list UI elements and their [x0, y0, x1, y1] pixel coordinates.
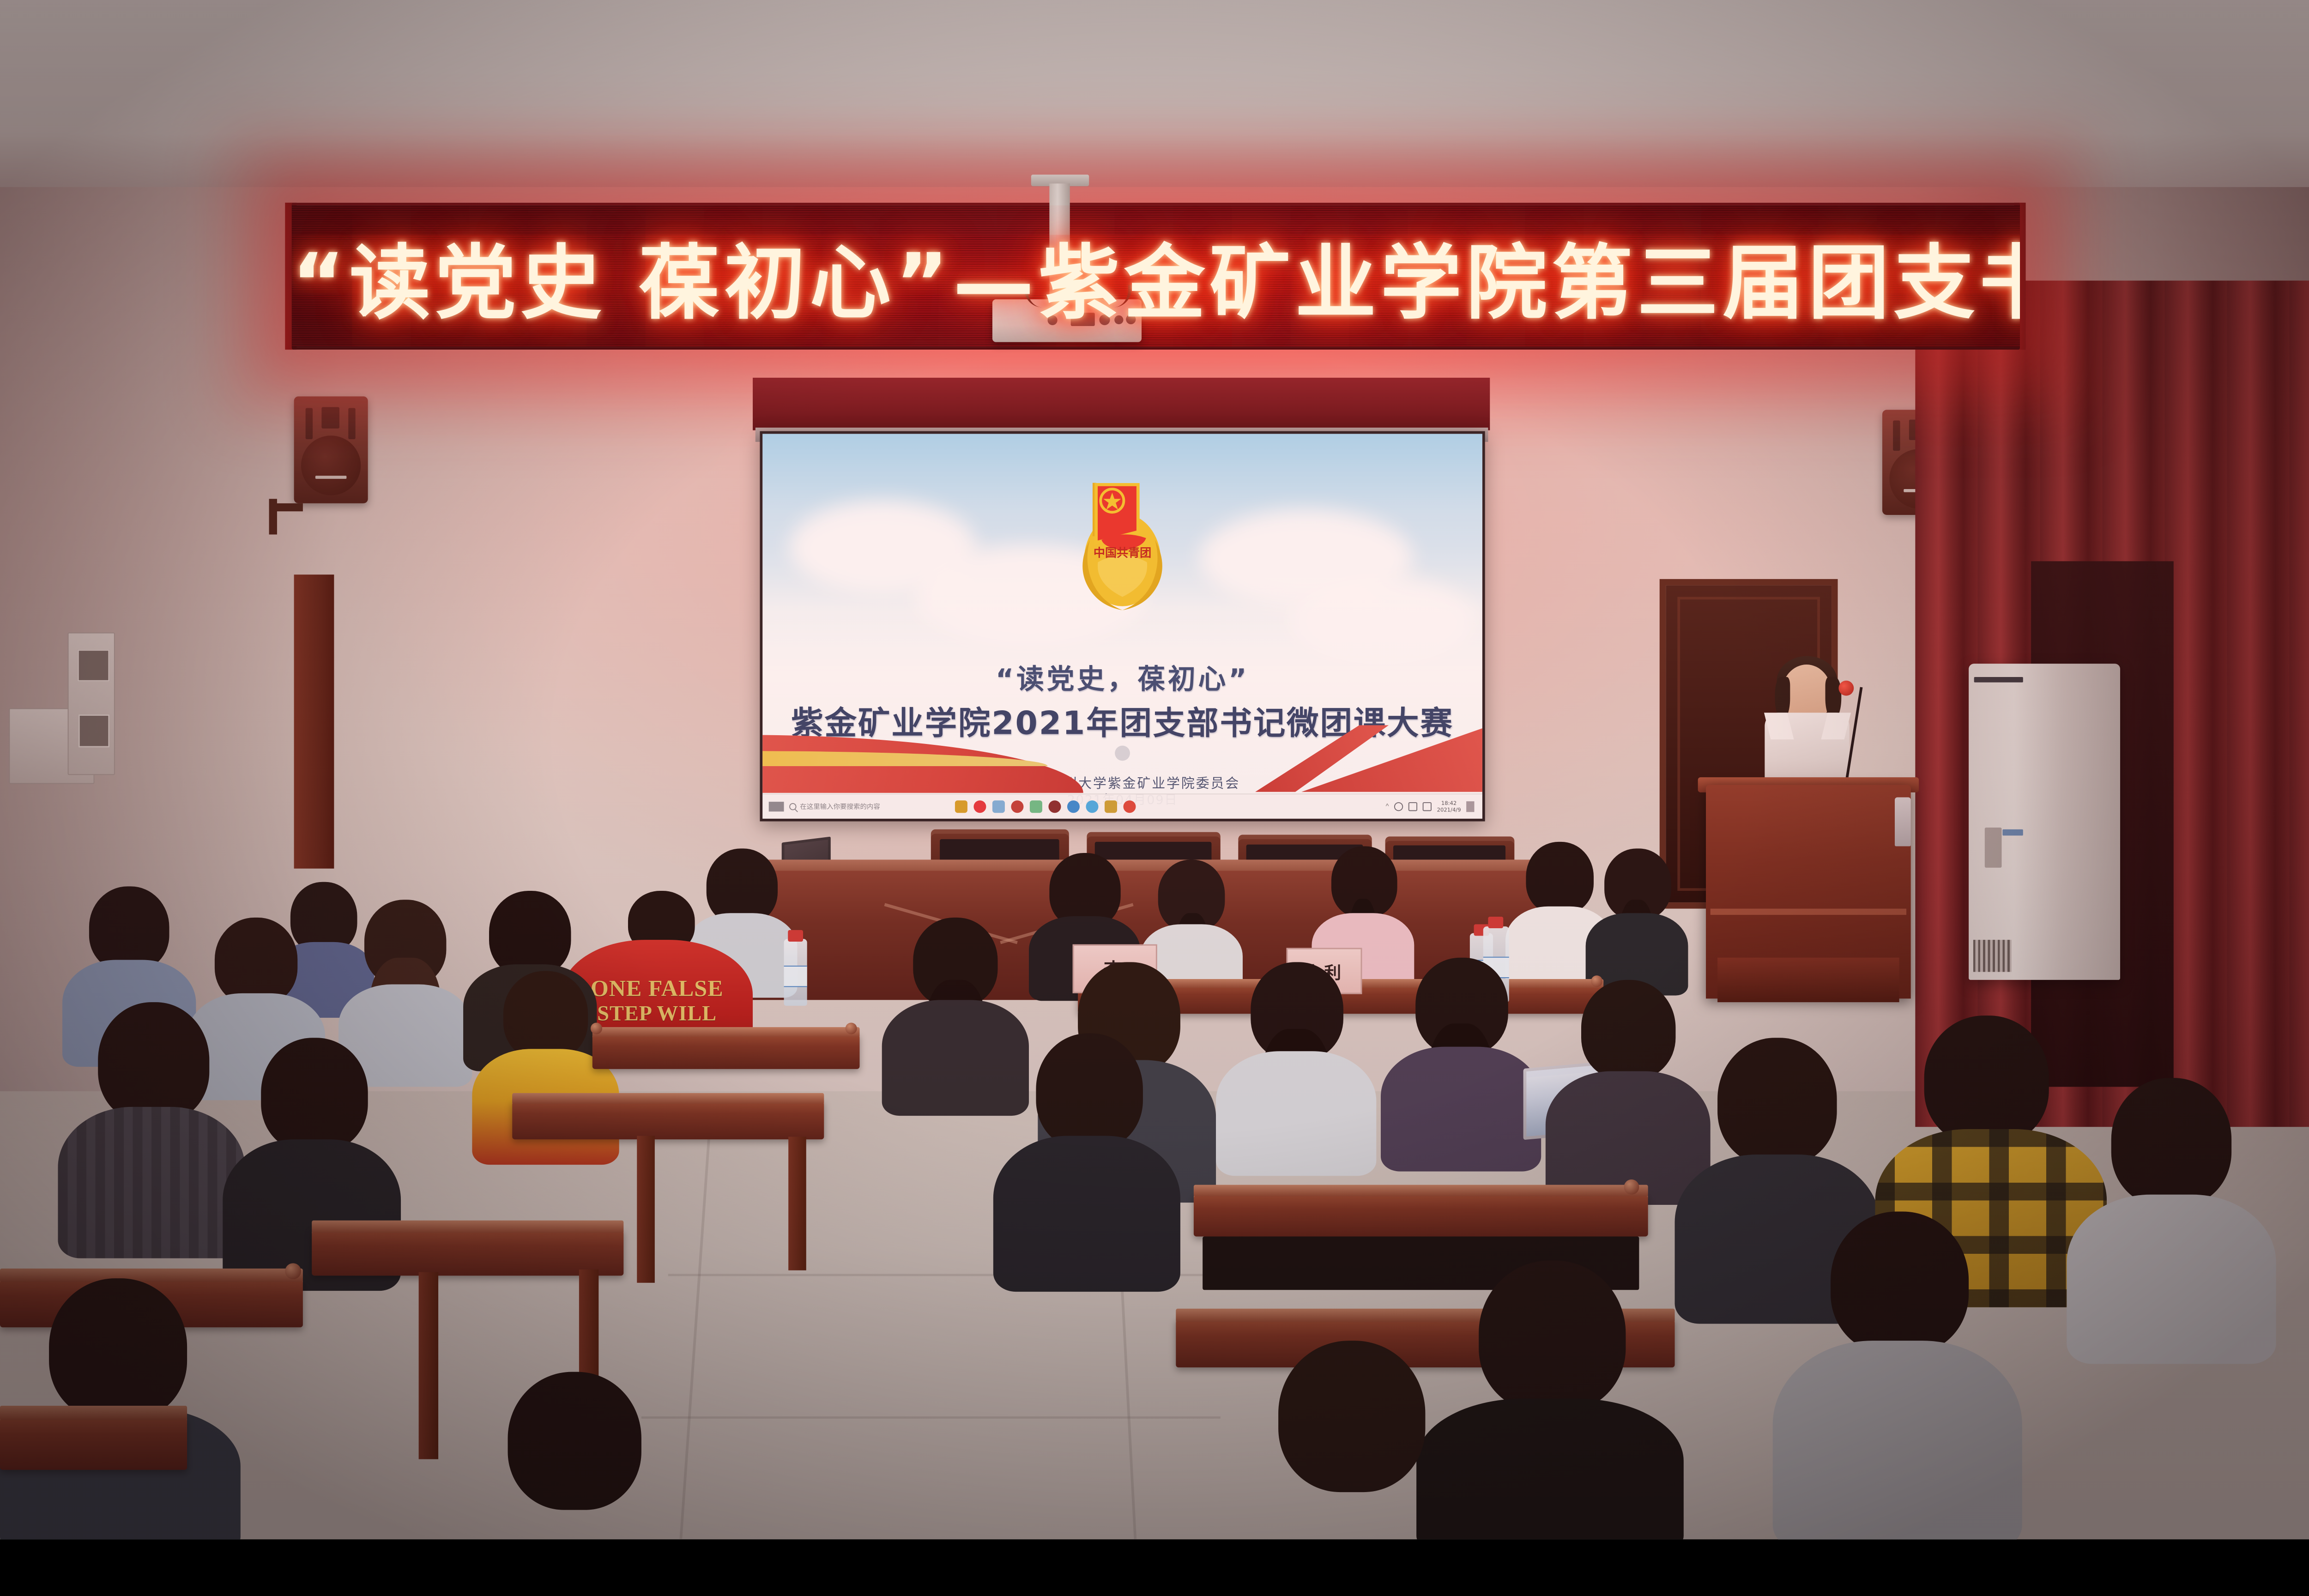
- speaker-horn-slot: [348, 408, 355, 439]
- person-head: [1831, 1211, 1969, 1354]
- caret-up-icon[interactable]: ^: [1386, 803, 1389, 810]
- person-head: [1924, 1016, 2049, 1145]
- speaker-horn-slot: [321, 407, 339, 429]
- left-wall-door[interactable]: [294, 574, 334, 869]
- search-icon: [789, 803, 796, 810]
- netease-music-icon[interactable]: [973, 800, 986, 813]
- browser-icon[interactable]: [1011, 800, 1023, 813]
- person-head: [2111, 1078, 2231, 1206]
- audience-person: [1381, 958, 1541, 1167]
- ac-control-panel[interactable]: [1985, 828, 2002, 868]
- bench-knob: [591, 1023, 602, 1034]
- wall-speaker-left: [294, 396, 368, 503]
- person-head: [1036, 1034, 1142, 1149]
- person-torso: [1773, 1341, 2022, 1539]
- bottle-cap: [788, 930, 803, 942]
- bench-rail: [312, 1221, 623, 1233]
- podium-base: [1717, 958, 1899, 1002]
- ime-icon[interactable]: [1423, 802, 1432, 811]
- search-placeholder-text: 在这里输入你要搜索的内容: [800, 802, 880, 811]
- network-icon[interactable]: [1394, 802, 1403, 811]
- slide-cloud: [1288, 576, 1475, 665]
- show-desktop-button[interactable]: [1466, 801, 1474, 812]
- person-head: [1581, 980, 1675, 1080]
- person-head: [1526, 842, 1594, 914]
- podium-water-bottle: [1895, 797, 1911, 846]
- ac-brand-logo: [2002, 829, 2023, 836]
- person-head: [98, 1002, 209, 1122]
- explorer-icon[interactable]: [955, 800, 967, 813]
- bench-leg: [788, 1137, 806, 1270]
- qq-icon[interactable]: [1086, 800, 1098, 813]
- taskbar-system-tray: ^ 18:42 2021/4/9: [1386, 800, 1482, 813]
- bench-row[interactable]: [512, 1100, 824, 1139]
- bench-rail: [0, 1406, 187, 1420]
- bench-leg: [419, 1272, 438, 1459]
- bench-knob: [846, 1023, 857, 1034]
- google-icon[interactable]: [1105, 800, 1117, 813]
- clock-time: 18:42: [1441, 800, 1457, 806]
- slide-title: “读党史，葆初心”: [762, 657, 1482, 697]
- floor-tile-line: [641, 1416, 1221, 1419]
- led-banner: “读党史 葆初心”—紫金矿业学院第三届团支书微团课比赛: [292, 203, 2020, 350]
- bench-row[interactable]: [1194, 1194, 1648, 1237]
- air-conditioner: [1969, 664, 2120, 980]
- audience-person: [1216, 962, 1376, 1171]
- slide-bullet-dot: [1115, 746, 1130, 761]
- shield-icon[interactable]: [1048, 800, 1061, 813]
- svg-text:中国共青团: 中国共青团: [1094, 546, 1151, 560]
- audience-person: [1211, 1341, 1487, 1539]
- person-head: [215, 918, 297, 1005]
- bench-knob: [285, 1263, 301, 1279]
- screen-valance: [753, 378, 1490, 430]
- audience-person: [1773, 1211, 2022, 1539]
- panel-window-upper: [78, 649, 109, 681]
- microphone-head-icon: [1838, 681, 1854, 696]
- file-manager-icon[interactable]: [992, 800, 1005, 813]
- bottle-label: [784, 966, 807, 987]
- bench-rail: [512, 1093, 824, 1104]
- bench-leg: [637, 1136, 655, 1282]
- speaker-horn-slot: [1893, 420, 1900, 451]
- taskbar-clock[interactable]: 18:42 2021/4/9: [1437, 800, 1461, 813]
- person-torso: [2067, 1195, 2276, 1364]
- ac-air-grille: [1973, 940, 2012, 972]
- speaker-bracket-left: [269, 499, 277, 534]
- youth-league-emblem: 中国共青团: [1067, 473, 1178, 616]
- podium-molding: [1711, 909, 1906, 915]
- projection-screen-frame: 中国共青团 “读党史，葆初心” 紫金矿业学院2021年团支部书记微团课大赛 共青…: [760, 431, 1485, 822]
- edge-icon[interactable]: [1067, 800, 1080, 813]
- speaker-horn-slot: [306, 408, 313, 439]
- bench-rail: [1194, 1185, 1648, 1197]
- led-banner-text: “读党史 葆初心”—紫金矿业学院第三届团支书微团课比赛: [292, 218, 2020, 335]
- person-head: [49, 1278, 187, 1421]
- person-head: [1717, 1038, 1837, 1165]
- person-head: [261, 1038, 368, 1152]
- audience-person: [993, 1034, 1180, 1283]
- speaker-brand-mark: [315, 476, 347, 479]
- person-head: [89, 886, 169, 971]
- person-torso: [993, 1136, 1180, 1292]
- mail-icon[interactable]: [1030, 800, 1042, 813]
- audience-person: [2067, 1078, 2276, 1354]
- person-head: [489, 891, 571, 976]
- panel-window-lower: [79, 714, 110, 747]
- lecture-hall-scene: “读党史 葆初心”—紫金矿业学院第三届团支书微团课比赛: [0, 0, 2309, 1539]
- taskbar-search-input[interactable]: 在这里输入你要搜索的内容: [789, 799, 923, 814]
- person-torso: [58, 1107, 245, 1258]
- bench-knob: [1624, 1179, 1639, 1195]
- windows-taskbar: 在这里输入你要搜索的内容 ^: [762, 794, 1482, 819]
- bench-row[interactable]: [312, 1229, 623, 1276]
- person-head: [508, 1372, 641, 1510]
- water-bottle: [784, 939, 807, 1006]
- projection-screen: 中国共青团 “读党史，葆初心” 紫金矿业学院2021年团支部书记微团课大赛 共青…: [762, 434, 1482, 818]
- person-head: [1278, 1341, 1425, 1492]
- person-head: [503, 971, 588, 1060]
- volume-icon[interactable]: [1408, 802, 1417, 811]
- bottle-cap: [1488, 917, 1503, 928]
- audience-person: [454, 1372, 686, 1540]
- wps-icon[interactable]: [1123, 800, 1136, 813]
- audience-person: [58, 1002, 245, 1251]
- audience-person: [1586, 848, 1688, 995]
- taskbar-icon-group: [955, 800, 1136, 813]
- person-torso: [1381, 1047, 1541, 1172]
- person-torso: [1216, 1051, 1376, 1176]
- bench-row[interactable]: [0, 1416, 187, 1470]
- clock-date: 2021/4/9: [1437, 806, 1461, 813]
- ac-vent-slot: [1974, 677, 2023, 683]
- slide-ribbon-gold-left: [762, 751, 1047, 766]
- person-head: [1479, 1261, 1626, 1412]
- start-button-icon[interactable]: [769, 802, 784, 811]
- bench-rail: [592, 1027, 860, 1037]
- slide-subtitle: 紫金矿业学院2021年团支部书记微团课大赛: [762, 696, 1482, 743]
- bench-row[interactable]: [592, 1034, 860, 1069]
- speaker-cone: [301, 435, 361, 495]
